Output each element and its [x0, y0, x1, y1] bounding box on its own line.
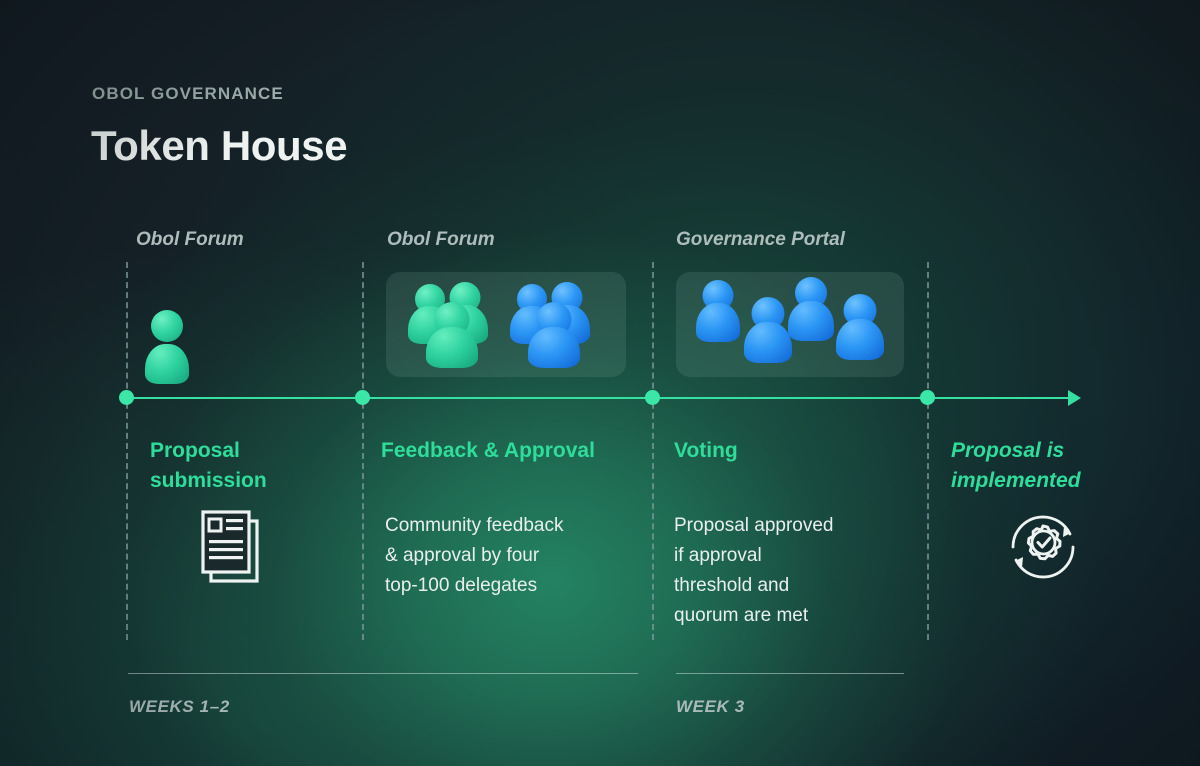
- proposer-person-icon: [145, 310, 189, 384]
- platform-label-3: Governance Portal: [676, 229, 845, 251]
- step-2-body-line3: top-100 delegates: [385, 575, 537, 596]
- step-2-body: Community feedback & approval by four to…: [385, 511, 645, 601]
- infographic-canvas: OBOL GOVERNANCE Token House Obol Forum O…: [0, 0, 1200, 766]
- phase-label-2: WEEK 3: [676, 697, 745, 717]
- step-4-title-line2: implemented: [951, 469, 1081, 492]
- step-3-body: Proposal approved if approval threshold …: [674, 511, 914, 631]
- voter-person-4: [836, 294, 884, 360]
- timeline-arrow-icon: [1068, 390, 1081, 406]
- person-blue-3: [528, 302, 580, 368]
- timeline-node-1[interactable]: [119, 390, 134, 405]
- gear-check-icon: [1004, 508, 1082, 591]
- step-4-title-line1: Proposal is: [951, 439, 1064, 462]
- timeline-node-4[interactable]: [920, 390, 935, 405]
- step-3-body-line3: threshold and: [674, 575, 789, 596]
- step-3-body-line2: if approval: [674, 545, 762, 566]
- step-2-title: Feedback & Approval: [381, 436, 651, 466]
- voter-person-1: [696, 280, 740, 342]
- step-2-body-line2: & approval by four: [385, 545, 539, 566]
- voting-people-panel: [676, 272, 904, 377]
- divider-dashed-2: [362, 262, 364, 640]
- feedback-people-panel: [386, 272, 626, 377]
- platform-label-1: Obol Forum: [136, 229, 244, 251]
- step-4-title: Proposal is implemented: [951, 436, 1161, 496]
- voter-person-2: [744, 297, 792, 363]
- page-title: Token House: [91, 122, 347, 170]
- step-3-body-line4: quorum are met: [674, 605, 808, 626]
- timeline-node-3[interactable]: [645, 390, 660, 405]
- step-1-title: Proposal submission: [150, 436, 350, 496]
- step-1-title-line2: submission: [150, 469, 267, 492]
- timeline-node-2[interactable]: [355, 390, 370, 405]
- step-3-title: Voting: [674, 436, 914, 466]
- phase-label-1: WEEKS 1–2: [129, 697, 230, 717]
- phase-rule-1: [128, 673, 638, 674]
- person-green-3: [426, 302, 478, 368]
- eyebrow-label: OBOL GOVERNANCE: [92, 84, 284, 104]
- step-2-body-line1: Community feedback: [385, 515, 563, 536]
- platform-label-2: Obol Forum: [387, 229, 495, 251]
- divider-dashed-1: [126, 262, 128, 640]
- step-3-body-line1: Proposal approved: [674, 515, 834, 536]
- divider-dashed-3: [652, 262, 654, 640]
- step-1-title-line1: Proposal: [150, 439, 240, 462]
- documents-icon: [200, 508, 266, 591]
- phase-rule-2: [676, 673, 904, 674]
- voter-person-3: [788, 277, 834, 341]
- divider-dashed-4: [927, 262, 929, 640]
